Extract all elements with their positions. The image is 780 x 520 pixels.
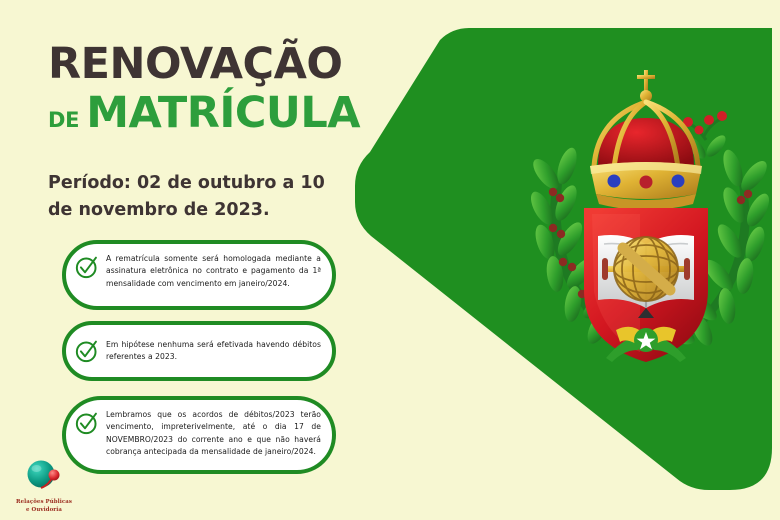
info-card-text: Em hipótese nenhuma será efetivada haven… [106, 339, 321, 364]
logo-line-2: e Ouvidoria [26, 507, 62, 513]
coat-of-arms-icon [520, 62, 780, 362]
info-card: Em hipótese nenhuma será efetivada haven… [62, 321, 336, 381]
title-renovacao: RENOVAÇÃO [48, 44, 378, 86]
check-circle-icon [74, 338, 100, 364]
logo-caption: Relações Públicas e Ouvidoria [8, 499, 80, 514]
check-circle-icon [74, 410, 100, 436]
title-matricula: MATRÍCULA [86, 92, 360, 135]
sphere-logo-icon [22, 458, 66, 498]
page-title: RENOVAÇÃO DE MATRÍCULA [48, 44, 378, 135]
organization-logo: Relações Públicas e Ouvidoria [8, 458, 80, 514]
poster-canvas: RENOVAÇÃO DE MATRÍCULA Período: 02 de ou… [0, 0, 780, 520]
info-card: Lembramos que os acordos de débitos/2023… [62, 396, 336, 474]
info-card-text: Lembramos que os acordos de débitos/2023… [106, 409, 321, 458]
check-circle-icon [74, 254, 100, 280]
period-text: Período: 02 de outubro a 10 de novembro … [48, 170, 348, 224]
info-card-text: A rematrícula somente será homologada me… [106, 253, 321, 290]
logo-line-1: Relações Públicas [16, 499, 72, 505]
info-card: A rematrícula somente será homologada me… [62, 240, 336, 310]
title-de-matricula: DE MATRÍCULA [48, 92, 378, 135]
crown-icon [590, 70, 702, 210]
title-de: DE [48, 108, 79, 132]
